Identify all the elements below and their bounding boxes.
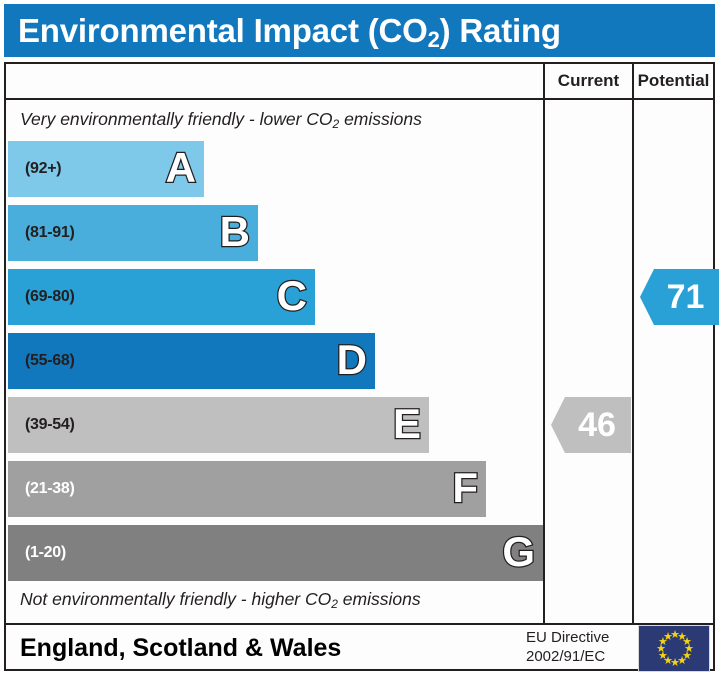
current-column-divider	[543, 64, 545, 623]
footer-eu-directive: EU Directive 2002/91/EC	[526, 629, 631, 667]
potential-column-divider	[632, 64, 634, 623]
caption-subscript-bottom: 2	[331, 597, 338, 611]
eu-flag-icon	[638, 625, 710, 672]
title-subscript: 2	[428, 27, 440, 52]
band-letter-g: G	[502, 531, 535, 573]
band-bar-d: (55-68)D	[8, 333, 375, 389]
band-letter-f: F	[452, 467, 478, 509]
band-range-g: (1-20)	[25, 544, 66, 562]
directive-line-2: 2002/91/EC	[526, 648, 631, 667]
band-bar-g: (1-20)G	[8, 525, 543, 581]
band-range-e: (39-54)	[25, 416, 74, 434]
caption-not-friendly: Not environmentally friendly - higher CO…	[20, 589, 421, 610]
band-range-a: (92+)	[25, 160, 61, 178]
band-range-c: (69-80)	[25, 288, 74, 306]
band-letter-b: B	[220, 211, 250, 253]
caption-very-friendly: Very environmentally friendly - lower CO…	[20, 109, 422, 130]
band-letter-d: D	[337, 339, 367, 381]
band-letter-c: C	[277, 275, 307, 317]
band-bar-a: (92+)A	[8, 141, 204, 197]
band-bar-f: (21-38)F	[8, 461, 486, 517]
potential-rating-indicator: 71	[640, 269, 719, 325]
band-letter-a: A	[166, 147, 196, 189]
page-title: Environmental Impact (CO2) Rating	[18, 12, 561, 50]
band-range-b: (81-91)	[25, 224, 74, 242]
band-letter-e: E	[393, 403, 421, 445]
epc-environmental-impact-chart: Environmental Impact (CO2) Rating Curren…	[0, 0, 719, 675]
directive-line-1: EU Directive	[526, 629, 631, 648]
band-range-f: (21-38)	[25, 480, 74, 498]
column-header-potential: Potential	[634, 64, 713, 98]
current-rating-indicator: 46	[551, 397, 631, 453]
ratings-table: Current Potential Very environmentally f…	[4, 62, 715, 671]
chart-title-bar: Environmental Impact (CO2) Rating	[4, 4, 715, 57]
band-bar-b: (81-91)B	[8, 205, 258, 261]
caption-subscript: 2	[333, 117, 340, 131]
footer-region-label: England, Scotland & Wales	[20, 634, 341, 663]
band-range-d: (55-68)	[25, 352, 74, 370]
header-divider	[6, 98, 713, 100]
chart-footer: England, Scotland & Wales EU Directive 2…	[6, 625, 713, 671]
band-bar-e: (39-54)E	[8, 397, 429, 453]
band-bar-c: (69-80)C	[8, 269, 315, 325]
column-header-current: Current	[545, 64, 632, 98]
